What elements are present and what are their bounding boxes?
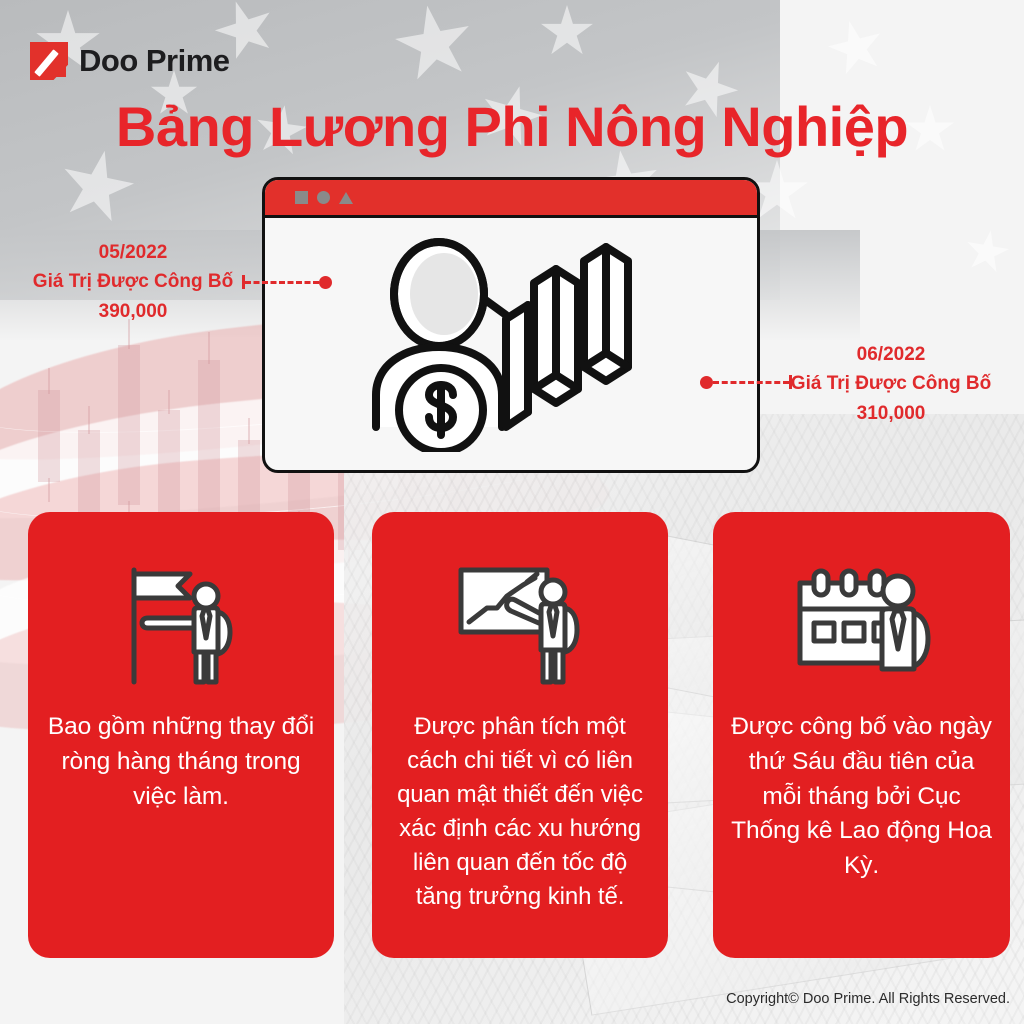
annotation-right-value: 310,000 <box>766 399 1016 428</box>
annotation-right-date: 06/2022 <box>766 340 1016 369</box>
annotation-left: 05/2022 Giá Trị Được Công Bố 390,000 <box>8 238 258 326</box>
annotation-right: 06/2022 Giá Trị Được Công Bố 310,000 <box>766 340 1016 428</box>
calendar-with-businessman-icon <box>792 554 932 694</box>
annotation-left-value: 390,000 <box>8 297 258 326</box>
info-card: Được phân tích một cách chi tiết vì có l… <box>372 512 668 958</box>
presentation-board-with-businessman-icon <box>453 554 587 694</box>
browser-title-bar <box>265 180 757 218</box>
connector-dot-icon <box>700 376 713 389</box>
page-title: Bảng Lương Phi Nông Nghiệp <box>0 98 1024 157</box>
square-icon[interactable] <box>295 191 308 204</box>
candlestick-bar <box>158 410 180 520</box>
person-with-dollar-coin-and-bar-chart-icon <box>366 237 656 452</box>
flag-with-businessman-icon <box>118 554 244 694</box>
browser-content-area <box>265 218 757 470</box>
brand-logo: Doo Prime <box>30 42 230 80</box>
doo-prime-logo-mark-icon <box>30 42 68 80</box>
connector-dashed-line <box>713 381 789 384</box>
flag-star-icon <box>822 14 890 82</box>
copyright-footer: Copyright© Doo Prime. All Rights Reserve… <box>726 991 1010 1007</box>
browser-window-mockup <box>262 177 760 473</box>
info-card-text: Bao gồm những thay đổi ròng hàng tháng t… <box>44 710 318 814</box>
candlestick-bar <box>198 360 220 530</box>
candlestick-bar <box>38 390 60 482</box>
connector-dashed-line <box>245 281 319 284</box>
info-card: Bao gồm những thay đổi ròng hàng tháng t… <box>28 512 334 958</box>
brand-name: Doo Prime <box>79 43 230 79</box>
annotation-left-date: 05/2022 <box>8 238 258 267</box>
info-card-text: Được công bố vào ngày thứ Sáu đầu tiên c… <box>729 710 994 884</box>
connector-tick-icon <box>789 375 792 389</box>
annotation-right-connector <box>700 375 792 389</box>
candlestick-bar <box>118 345 140 505</box>
annotation-right-label: Giá Trị Được Công Bố <box>766 369 1016 398</box>
connector-dot-icon <box>319 276 332 289</box>
info-card: Được công bố vào ngày thứ Sáu đầu tiên c… <box>713 512 1010 958</box>
info-card-list: Bao gồm những thay đổi ròng hàng tháng t… <box>0 512 1024 962</box>
triangle-icon[interactable] <box>339 192 353 204</box>
flag-star-icon <box>962 227 1013 278</box>
info-card-text: Được phân tích một cách chi tiết vì có l… <box>388 710 652 914</box>
circle-icon[interactable] <box>317 191 330 204</box>
annotation-left-connector <box>242 275 332 289</box>
annotation-left-label: Giá Trị Được Công Bố <box>8 267 258 296</box>
